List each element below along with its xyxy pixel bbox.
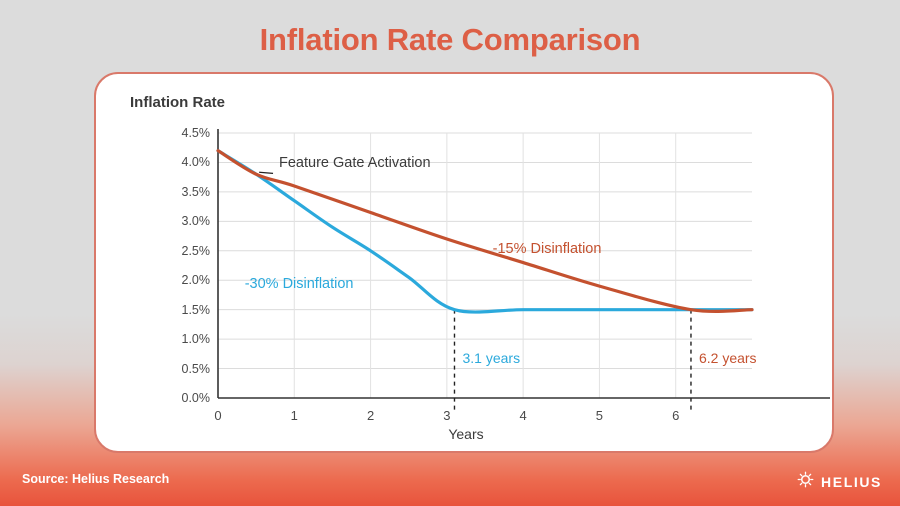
brand-logo: HELIUS (797, 471, 882, 493)
x-axis-tick-label: 5 (584, 408, 614, 423)
chart-card: Inflation Rate 0.0%0.5%1.0%1.5%2.0%2.5%3… (94, 72, 834, 453)
source-label: Source: Helius Research (22, 472, 169, 486)
annotation-blue-disinflation: -30% Disinflation (245, 276, 354, 292)
x-axis-title: Years (96, 426, 836, 442)
y-axis-tick-label: 4.5% (164, 126, 210, 140)
x-axis-tick-label: 2 (356, 408, 386, 423)
y-axis-tick-label: 0.0% (164, 391, 210, 405)
chart-plot-area: 0.0%0.5%1.0%1.5%2.0%2.5%3.0%3.5%4.0%4.5%… (96, 74, 836, 455)
x-axis-tick-label: 6 (661, 408, 691, 423)
marker-label: 3.1 years (462, 350, 520, 366)
y-axis-tick-label: 2.0% (164, 273, 210, 287)
sunburst-icon (797, 471, 814, 493)
y-axis-tick-label: 3.5% (164, 185, 210, 199)
y-axis-tick-label: 1.5% (164, 303, 210, 317)
x-axis-tick-label: 4 (508, 408, 538, 423)
x-axis-tick-label: 3 (432, 408, 462, 423)
x-axis-tick-label: 1 (279, 408, 309, 423)
annotation-red-disinflation: -15% Disinflation (493, 241, 602, 257)
annotation-leader-line (259, 172, 273, 173)
annotation-feature-gate: Feature Gate Activation (279, 155, 431, 171)
y-axis-tick-label: 4.0% (164, 155, 210, 169)
page-title: Inflation Rate Comparison (0, 22, 900, 58)
y-axis-tick-label: 2.5% (164, 244, 210, 258)
y-axis-tick-label: 3.0% (164, 214, 210, 228)
marker-label: 6.2 years (699, 350, 757, 366)
x-axis-tick-label: 0 (203, 408, 233, 423)
logo-text: HELIUS (821, 474, 882, 490)
y-axis-tick-label: 0.5% (164, 362, 210, 376)
y-axis-tick-label: 1.0% (164, 332, 210, 346)
